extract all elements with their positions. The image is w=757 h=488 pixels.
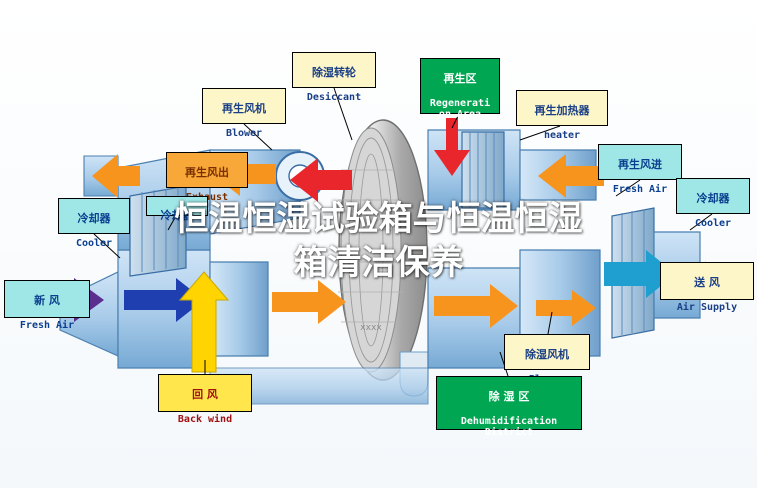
regeneration-heater-coil bbox=[462, 132, 504, 208]
label-regeneration-blower: 再生风机 Blower bbox=[202, 88, 286, 124]
label-air-supply-cn: 送 风 bbox=[661, 277, 753, 289]
label-cooler-mid-cn: 冷却器 bbox=[147, 210, 207, 222]
label-regeneration-fresh-air-en: Fresh Air bbox=[599, 184, 681, 195]
label-regeneration-fresh-air: 再生风进 Fresh Air bbox=[598, 144, 682, 180]
label-cooler-mid: 冷却器 bbox=[146, 196, 208, 216]
label-exhaust: 再生风出 Exhaust bbox=[166, 152, 248, 188]
label-desiccant-rotor: 除湿转轮 Desiccant bbox=[292, 52, 376, 88]
label-dehumidification-district: 除 湿 区 Dehumidification District bbox=[436, 376, 582, 430]
label-desiccant-rotor-en: Desiccant bbox=[293, 92, 375, 103]
label-fresh-air-inlet-cn: 新 风 bbox=[5, 295, 89, 307]
label-regeneration-area-cn: 再生区 bbox=[421, 73, 499, 85]
label-back-wind-cn: 回 风 bbox=[159, 389, 251, 401]
label-dehumidification-district-en: Dehumidification District bbox=[437, 416, 581, 438]
label-back-wind: 回 风 Back wind bbox=[158, 374, 252, 412]
label-dehumidification-district-cn: 除 湿 区 bbox=[437, 391, 581, 403]
label-regeneration-area-en: Regenerati on Area bbox=[421, 98, 499, 120]
label-cooler-left-en: Cooler bbox=[59, 238, 129, 249]
label-regeneration-fresh-air-cn: 再生风进 bbox=[599, 159, 681, 171]
label-fresh-air-inlet: 新 风 Fresh Air bbox=[4, 280, 90, 318]
duct-left-mid bbox=[210, 262, 268, 356]
label-dehumidify-blower: 除湿风机 Blower bbox=[504, 334, 590, 370]
label-exhaust-cn: 再生风出 bbox=[167, 167, 247, 179]
label-back-wind-en: Back wind bbox=[159, 414, 251, 425]
label-regeneration-heater-cn: 再生加热器 bbox=[517, 105, 607, 117]
label-cooler-left: 冷却器 Cooler bbox=[58, 198, 130, 234]
label-cooler-right: 冷却器 Cooler bbox=[676, 178, 750, 214]
label-cooler-right-en: Cooler bbox=[677, 218, 749, 229]
label-regeneration-heater: 再生加热器 heater bbox=[516, 90, 608, 126]
label-regeneration-blower-cn: 再生风机 bbox=[203, 103, 285, 115]
label-air-supply: 送 风 Air Supply bbox=[660, 262, 754, 300]
label-regeneration-heater-en: heater bbox=[517, 130, 607, 141]
label-regeneration-blower-en: Blower bbox=[203, 128, 285, 139]
label-cooler-right-cn: 冷却器 bbox=[677, 193, 749, 205]
diagram-canvas: xxxx bbox=[0, 0, 757, 488]
label-air-supply-en: Air Supply bbox=[661, 302, 753, 313]
label-fresh-air-inlet-en: Fresh Air bbox=[5, 320, 89, 331]
label-regeneration-area: 再生区 Regenerati on Area bbox=[420, 58, 500, 114]
svg-text:xxxx: xxxx bbox=[360, 323, 382, 333]
label-dehumidify-blower-cn: 除湿风机 bbox=[505, 349, 589, 361]
label-desiccant-rotor-cn: 除湿转轮 bbox=[293, 67, 375, 79]
label-cooler-left-cn: 冷却器 bbox=[59, 213, 129, 225]
